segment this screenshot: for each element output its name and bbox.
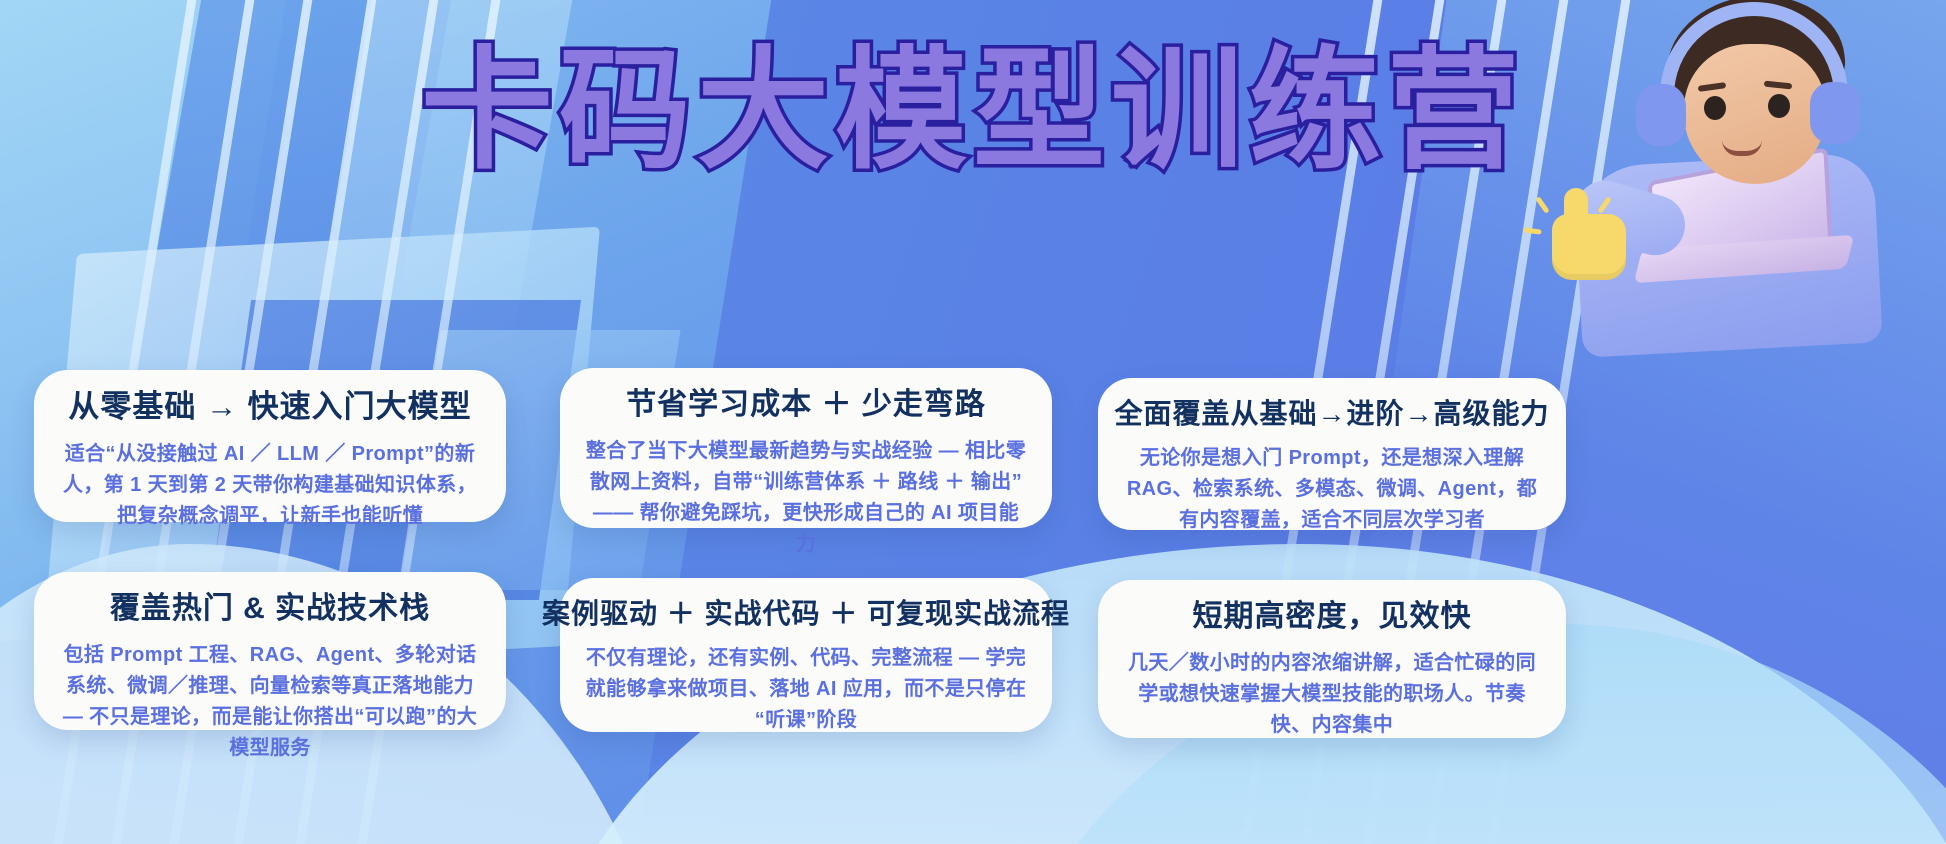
feature-card-title: 从零基础 → 快速入门大模型 [68,388,471,427]
feature-card-body: 不仅有理论，还有实例、代码、完整流程 — 学完就能够拿来做项目、落地 AI 应用… [584,643,1028,736]
promo-banner: 卡码大模型训练营 从零基础 → 快速入门大模型 适合“从没接触过 AI ／ LL… [0,0,1946,844]
feature-card-grid: 从零基础 → 快速入门大模型 适合“从没接触过 AI ／ LLM ／ Promp… [0,0,1946,844]
feature-card-body: 适合“从没接触过 AI ／ LLM ／ Prompt”的新人，第 1 天到第 2… [58,439,482,532]
feature-card-title: 覆盖热门 & 实战技术栈 [110,590,430,628]
feature-card-full-coverage[interactable]: 全面覆盖从基础→进阶→高级能力 无论你是想入门 Prompt，还是想深入理解 R… [1098,378,1566,530]
feature-card-body: 无论你是想入门 Prompt，还是想深入理解 RAG、检索系统、多模态、微调、A… [1122,443,1542,536]
feature-card-hot-stack[interactable]: 覆盖热门 & 实战技术栈 包括 Prompt 工程、RAG、Agent、多轮对话… [34,572,506,730]
feature-card-body: 几天／数小时的内容浓缩讲解，适合忙碌的同学或想快速掌握大模型技能的职场人。节奏快… [1122,648,1542,741]
feature-card-save-cost[interactable]: 节省学习成本 ＋ 少走弯路 整合了当下大模型最新趋势与实战经验 — 相比零散网上… [560,368,1052,528]
feature-card-body: 包括 Prompt 工程、RAG、Agent、多轮对话系统、微调／推理、向量检索… [58,640,482,764]
feature-card-short-intensive[interactable]: 短期高密度，见效快 几天／数小时的内容浓缩讲解，适合忙碌的同学或想快速掌握大模型… [1098,580,1566,738]
feature-card-title: 短期高密度，见效快 [1193,598,1472,636]
feature-card-title: 节省学习成本 ＋ 少走弯路 [626,386,986,424]
feature-card-body: 整合了当下大模型最新趋势与实战经验 — 相比零散网上资料，自带“训练营体系 ＋ … [584,436,1028,560]
feature-card-title: 全面覆盖从基础→进阶→高级能力 [1115,396,1550,431]
feature-card-title: 案例驱动 ＋ 实战代码 ＋ 可复现实战流程 [542,596,1070,631]
feature-card-zero-basis[interactable]: 从零基础 → 快速入门大模型 适合“从没接触过 AI ／ LLM ／ Promp… [34,370,506,522]
feature-card-case-driven[interactable]: 案例驱动 ＋ 实战代码 ＋ 可复现实战流程 不仅有理论，还有实例、代码、完整流程… [560,578,1052,732]
